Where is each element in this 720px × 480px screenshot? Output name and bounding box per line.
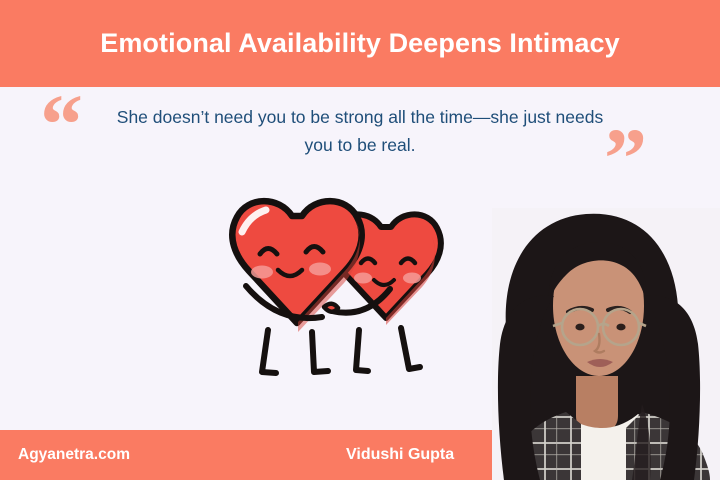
open-quote-icon: “ — [40, 81, 83, 167]
quote-text: She doesn’t need you to be strong all th… — [104, 104, 616, 159]
page-title: Emotional Availability Deepens Intimacy — [100, 29, 620, 59]
site-watermark: Agyanetra.com — [18, 446, 130, 464]
hugging-hearts-illustration — [196, 180, 460, 385]
header-band: Emotional Availability Deepens Intimacy — [0, 0, 720, 87]
quote-card: Emotional Availability Deepens Intimacy … — [0, 0, 720, 480]
close-quote-icon: ” — [604, 115, 647, 201]
quote-section: “ She doesn’t need you to be strong all … — [0, 87, 720, 197]
presenter-name-label: Vidushi Gupta — [346, 446, 454, 464]
presenter-photo — [492, 208, 720, 480]
